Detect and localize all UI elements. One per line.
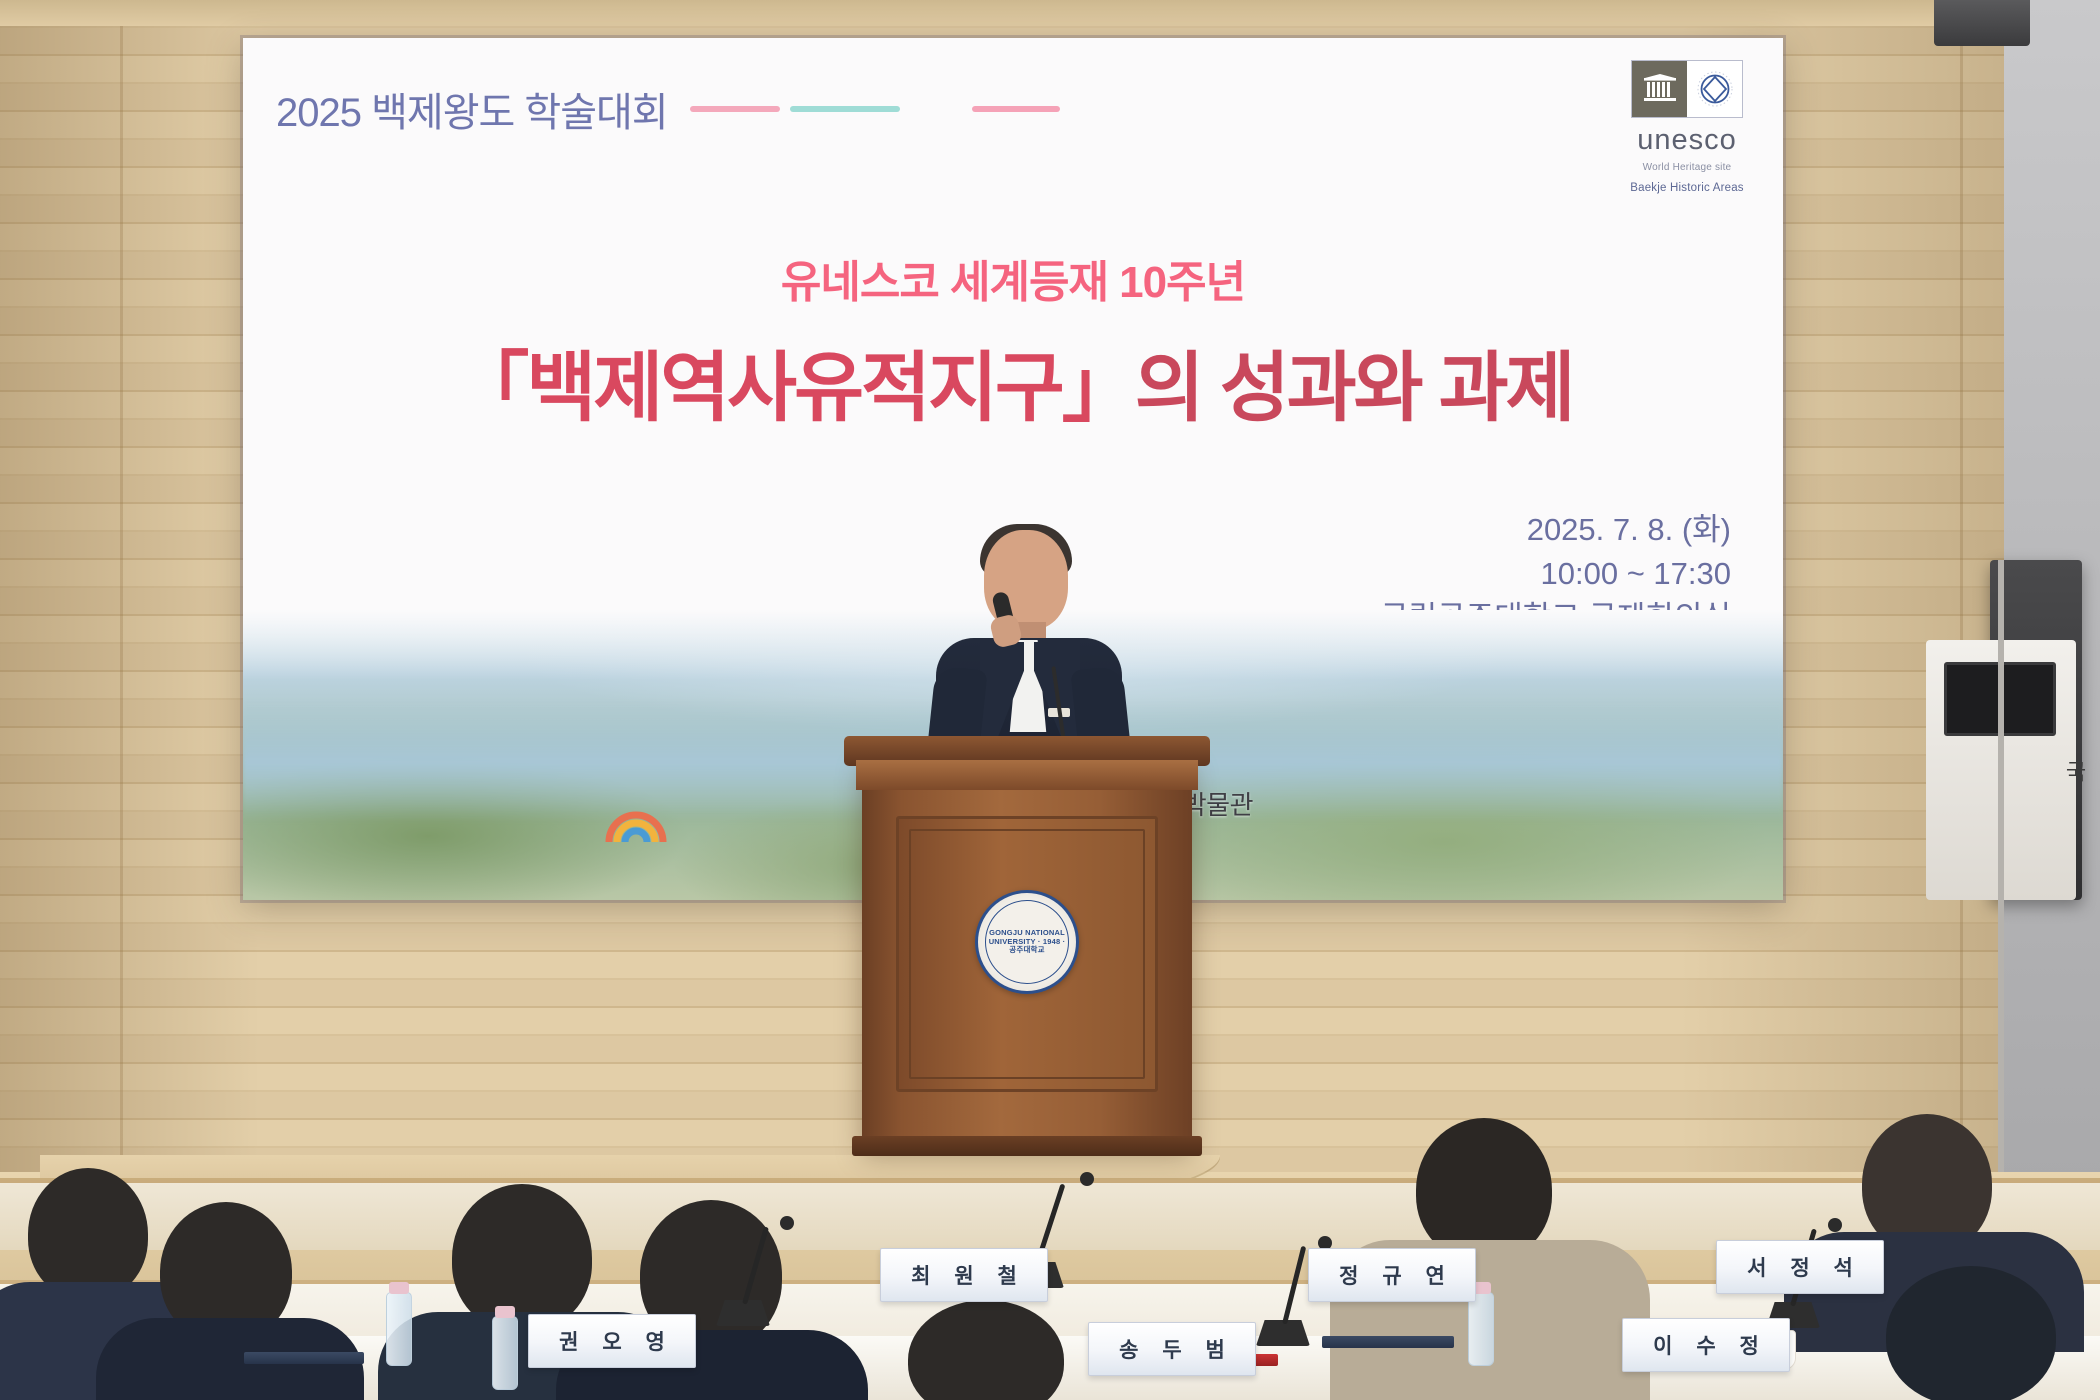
title-quote-open: 「 (453, 346, 526, 431)
wall-shadow-left (0, 0, 260, 1180)
title-tail: 의 성과와 과제 (1135, 346, 1573, 431)
slide-title: 「백제역사유적지구」의 성과와 과제 (243, 326, 1783, 436)
event-date: 2025. 7. 8. (화) (1380, 508, 1731, 552)
speaker-person (930, 530, 1130, 770)
unesco-tagline: World Heritage site (1621, 162, 1753, 173)
rule-pink-icon (690, 106, 780, 112)
conference-room-scene: 국 2025 백제왕도 학술대회 (0, 0, 2100, 1400)
unesco-wordmark: unesco (1621, 126, 1753, 155)
nameplate-text: 송 두 범 (1110, 1334, 1234, 1364)
nameplate-text: 최 원 철 (902, 1260, 1026, 1290)
rule-gap (910, 106, 962, 112)
event-time: 10:00 ~ 17:30 (1380, 552, 1731, 596)
water-bottle (1468, 1292, 1494, 1366)
audience-head (28, 1168, 148, 1300)
world-heritage-emblem-icon (1687, 61, 1742, 117)
seal-ring (985, 900, 1069, 984)
nameplate-text: 권 오 영 (550, 1326, 674, 1356)
ceiling-edge (0, 0, 2100, 26)
nameplate-seo-jeong-seok: 서 정 석 (1716, 1240, 1884, 1294)
venue-side-label: 국 (2058, 760, 2090, 782)
tablet-device (1322, 1336, 1454, 1348)
unesco-logo: unesco World Heritage site Baekje Histor… (1621, 60, 1753, 194)
baekje-arch-logo-icon (603, 804, 669, 844)
slide-header: 2025 백제왕도 학술대회 (276, 80, 1060, 138)
nameplate-kwon-o-yeong: 권 오 영 (528, 1314, 696, 1368)
table-microphone-base (716, 1300, 770, 1326)
audience-head (452, 1184, 592, 1332)
nameplate-jeong-gyu-yeon: 정 규 연 (1308, 1248, 1476, 1302)
water-bottle-cap (495, 1306, 515, 1318)
nameplate-text: 이 수 정 (1644, 1330, 1768, 1360)
unesco-emblem (1631, 60, 1743, 118)
slide-eyebrow: 2025 백제왕도 학술대회 (276, 80, 668, 138)
nameplate-song-du-beop: 송 두 범 (1088, 1322, 1256, 1376)
table-microphone-head (1828, 1218, 1842, 1232)
water-bottle (492, 1316, 518, 1390)
podium-slope (856, 760, 1198, 790)
unesco-temple-icon (1632, 61, 1687, 117)
nameplate-lee-su-jeong: 이 수 정 (1622, 1318, 1790, 1372)
notebook (244, 1352, 364, 1364)
audience-head (1886, 1266, 2056, 1400)
water-bottle (386, 1292, 412, 1366)
unesco-site-name: Baekje Historic Areas (1621, 182, 1753, 194)
gongju-national-university-seal-icon: GONGJU NATIONAL UNIVERSITY · 1948 · 공주대학… (975, 890, 1079, 994)
water-bottle-cap (389, 1282, 409, 1294)
slide-rule-group (690, 106, 1060, 112)
table-microphone-head (780, 1216, 794, 1230)
table-microphone-head (1080, 1172, 1094, 1186)
ceiling-speaker-unit (1934, 0, 2030, 46)
rule-pink-2-icon (972, 106, 1060, 112)
slide-subtitle: 유네스코 세계등재 10주년 (243, 246, 1783, 310)
rule-mint-icon (790, 106, 900, 112)
nameplate-text: 정 규 연 (1330, 1260, 1454, 1290)
title-main: 백제역사유적지구 (526, 346, 1061, 431)
nameplate-choi-won-cheol: 최 원 철 (880, 1248, 1048, 1302)
table-microphone-base (1256, 1320, 1310, 1346)
nameplate-text: 서 정 석 (1738, 1252, 1862, 1282)
title-quote-close: 」 (1062, 346, 1135, 431)
